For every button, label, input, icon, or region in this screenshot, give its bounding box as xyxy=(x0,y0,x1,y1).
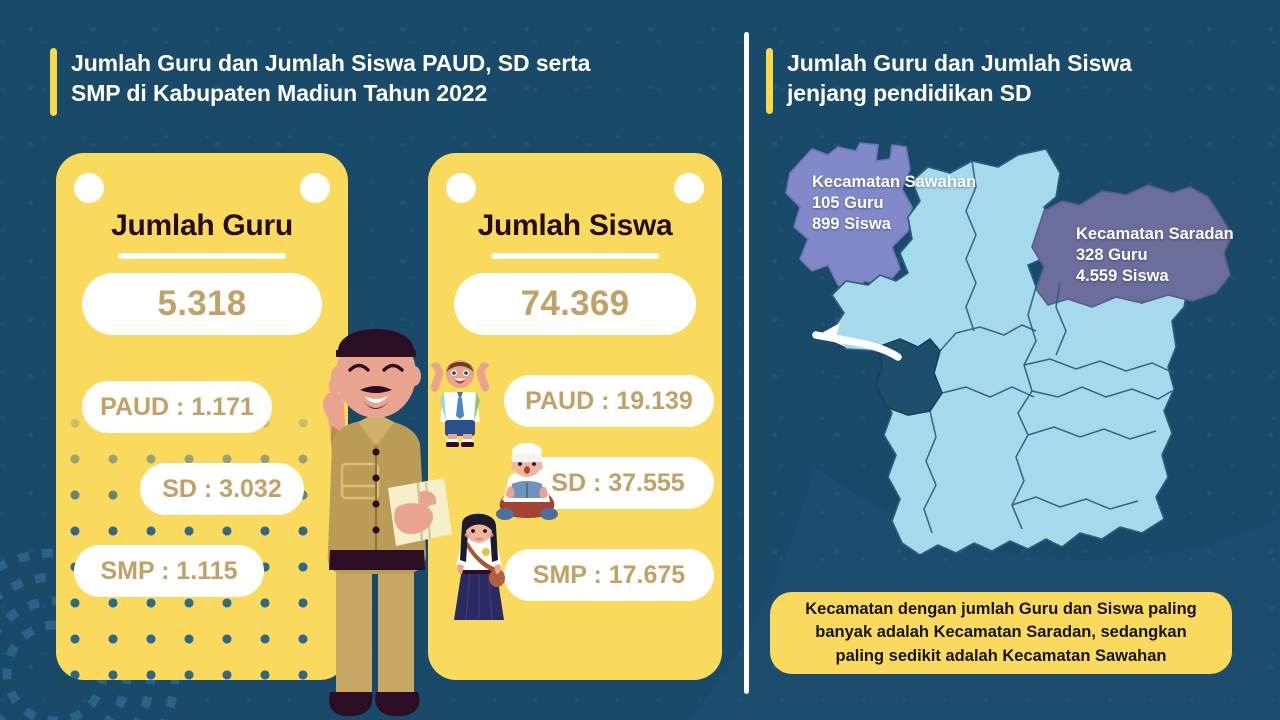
breakdown-label-guru-paud: PAUD : 1.171 xyxy=(100,393,254,422)
breakdown-pill-guru-smp: SMP : 1.115 xyxy=(74,545,264,597)
card-heading-siswa: Jumlah Siswa xyxy=(428,209,722,243)
card-divider-rule xyxy=(491,253,659,259)
title-accent-bar xyxy=(766,48,773,114)
breakdown-label-siswa-smp: SMP : 17.675 xyxy=(533,561,685,590)
card-divider-rule xyxy=(118,253,286,259)
left-section-title: Jumlah Guru dan Jumlah Siswa PAUD, SD se… xyxy=(50,48,710,116)
breakdown-pill-guru-paud: PAUD : 1.171 xyxy=(82,381,272,433)
breakdown-pill-siswa-paud: PAUD : 19.139 xyxy=(504,375,714,427)
map-label-sawahan: Kecamatan Sawahan 105 Guru 899 Siswa xyxy=(812,172,976,235)
right-title-text: Jumlah Guru dan Jumlah Siswa jenjang pen… xyxy=(787,48,1132,109)
total-value-siswa: 74.369 xyxy=(521,284,630,324)
card-heading-guru: Jumlah Guru xyxy=(56,209,348,243)
breakdown-label-guru-smp: SMP : 1.115 xyxy=(100,557,237,586)
card-punch-hole-right xyxy=(674,173,704,203)
total-pill-siswa: 74.369 xyxy=(454,273,696,335)
right-section-title: Jumlah Guru dan Jumlah Siswa jenjang pen… xyxy=(766,48,1236,114)
map-insight-caption: Kecamatan dengan jumlah Guru dan Siswa p… xyxy=(770,592,1232,674)
student-boy-illustration-icon xyxy=(426,356,494,448)
breakdown-pill-siswa-smp: SMP : 17.675 xyxy=(504,549,714,601)
title-accent-bar xyxy=(50,48,57,116)
breakdown-label-guru-sd: SD : 3.032 xyxy=(162,475,282,504)
left-title-text: Jumlah Guru dan Jumlah Siswa PAUD, SD se… xyxy=(71,48,590,109)
card-punch-hole-right xyxy=(300,173,330,203)
card-punch-hole-left xyxy=(74,173,104,203)
student-girl-illustration-icon xyxy=(446,508,512,626)
breakdown-label-siswa-paud: PAUD : 19.139 xyxy=(525,387,693,416)
card-punch-hole-left xyxy=(446,173,476,203)
map-label-saradan: Kecamatan Saradan 328 Guru 4.559 Siswa xyxy=(1076,224,1234,287)
vertical-divider xyxy=(744,32,749,694)
total-value-guru: 5.318 xyxy=(157,284,246,324)
breakdown-label-siswa-sd: SD : 37.555 xyxy=(551,469,684,498)
caption-text: Kecamatan dengan jumlah Guru dan Siswa p… xyxy=(805,598,1197,668)
